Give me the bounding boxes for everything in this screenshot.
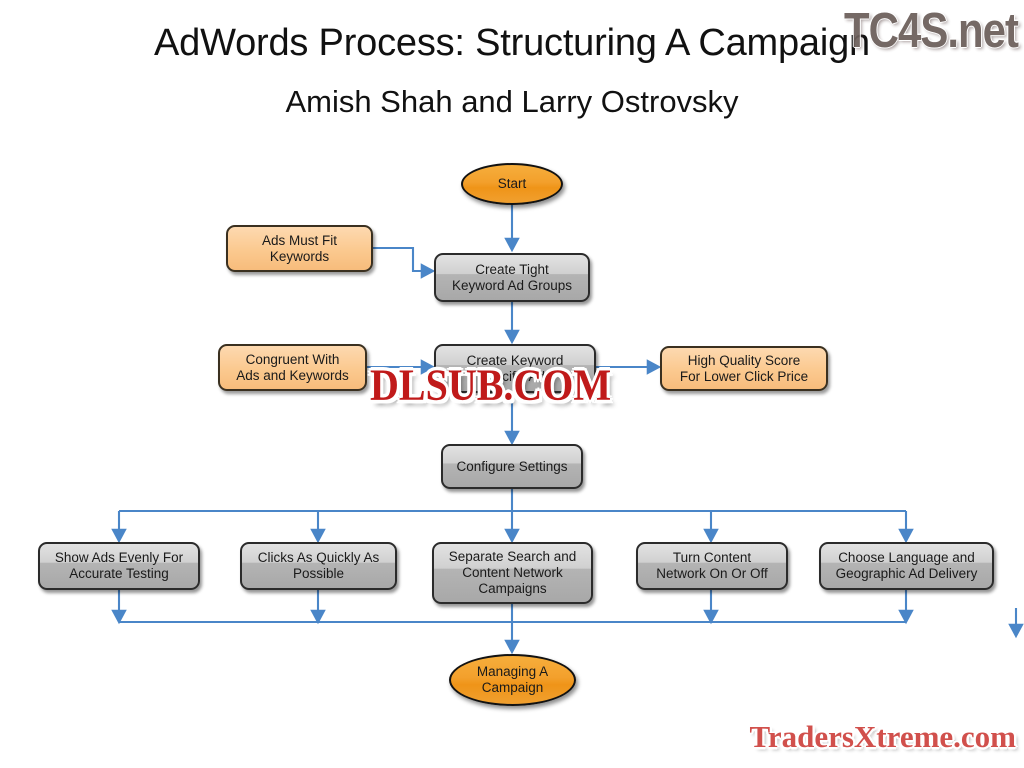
node-note-ads-fit[interactable]: Ads Must Fit Keywords xyxy=(226,225,373,272)
node-separate-nets[interactable]: Separate Search and Content Network Camp… xyxy=(432,542,593,604)
page-subtitle: Amish Shah and Larry Ostrovsky xyxy=(0,84,1024,120)
node-note-congruent-label: Congruent With Ads and Keywords xyxy=(220,352,365,384)
node-show-ads[interactable]: Show Ads Evenly For Accurate Testing xyxy=(38,542,200,590)
node-configure-label: Configure Settings xyxy=(443,459,581,475)
watermark-dlsub: DLSUB.COM xyxy=(370,358,611,411)
node-start-label: Start xyxy=(463,176,561,192)
node-turn-content[interactable]: Turn Content Network On Or Off xyxy=(636,542,788,590)
watermark-tc4s: TC4S.net xyxy=(844,2,1018,59)
node-separate-nets-label: Separate Search and Content Network Camp… xyxy=(434,549,591,597)
node-note-congruent[interactable]: Congruent With Ads and Keywords xyxy=(218,344,367,391)
node-clicks-quick-label: Clicks As Quickly As Possible xyxy=(242,550,395,582)
node-turn-content-label: Turn Content Network On Or Off xyxy=(638,550,786,582)
node-note-quality-label: High Quality Score For Lower Click Price xyxy=(662,353,826,385)
node-choose-lang-label: Choose Language and Geographic Ad Delive… xyxy=(821,550,992,582)
node-note-quality[interactable]: High Quality Score For Lower Click Price xyxy=(660,346,828,391)
node-note-ads-fit-label: Ads Must Fit Keywords xyxy=(228,233,371,265)
slide-canvas: AdWords Process: Structuring A Campaign … xyxy=(0,0,1024,768)
edge-note-ads-fit-to-create-tight xyxy=(373,248,431,271)
node-choose-lang[interactable]: Choose Language and Geographic Ad Delive… xyxy=(819,542,994,590)
node-start[interactable]: Start xyxy=(461,163,563,205)
node-clicks-quick[interactable]: Clicks As Quickly As Possible xyxy=(240,542,397,590)
node-create-tight[interactable]: Create Tight Keyword Ad Groups xyxy=(434,253,590,302)
node-managing-label: Managing A Campaign xyxy=(451,664,574,696)
node-configure[interactable]: Configure Settings xyxy=(441,444,583,489)
node-show-ads-label: Show Ads Evenly For Accurate Testing xyxy=(40,550,198,582)
node-create-tight-label: Create Tight Keyword Ad Groups xyxy=(436,262,588,294)
watermark-tradersxtreme: TradersXtreme.com xyxy=(749,719,1016,755)
node-managing[interactable]: Managing A Campaign xyxy=(449,654,576,706)
